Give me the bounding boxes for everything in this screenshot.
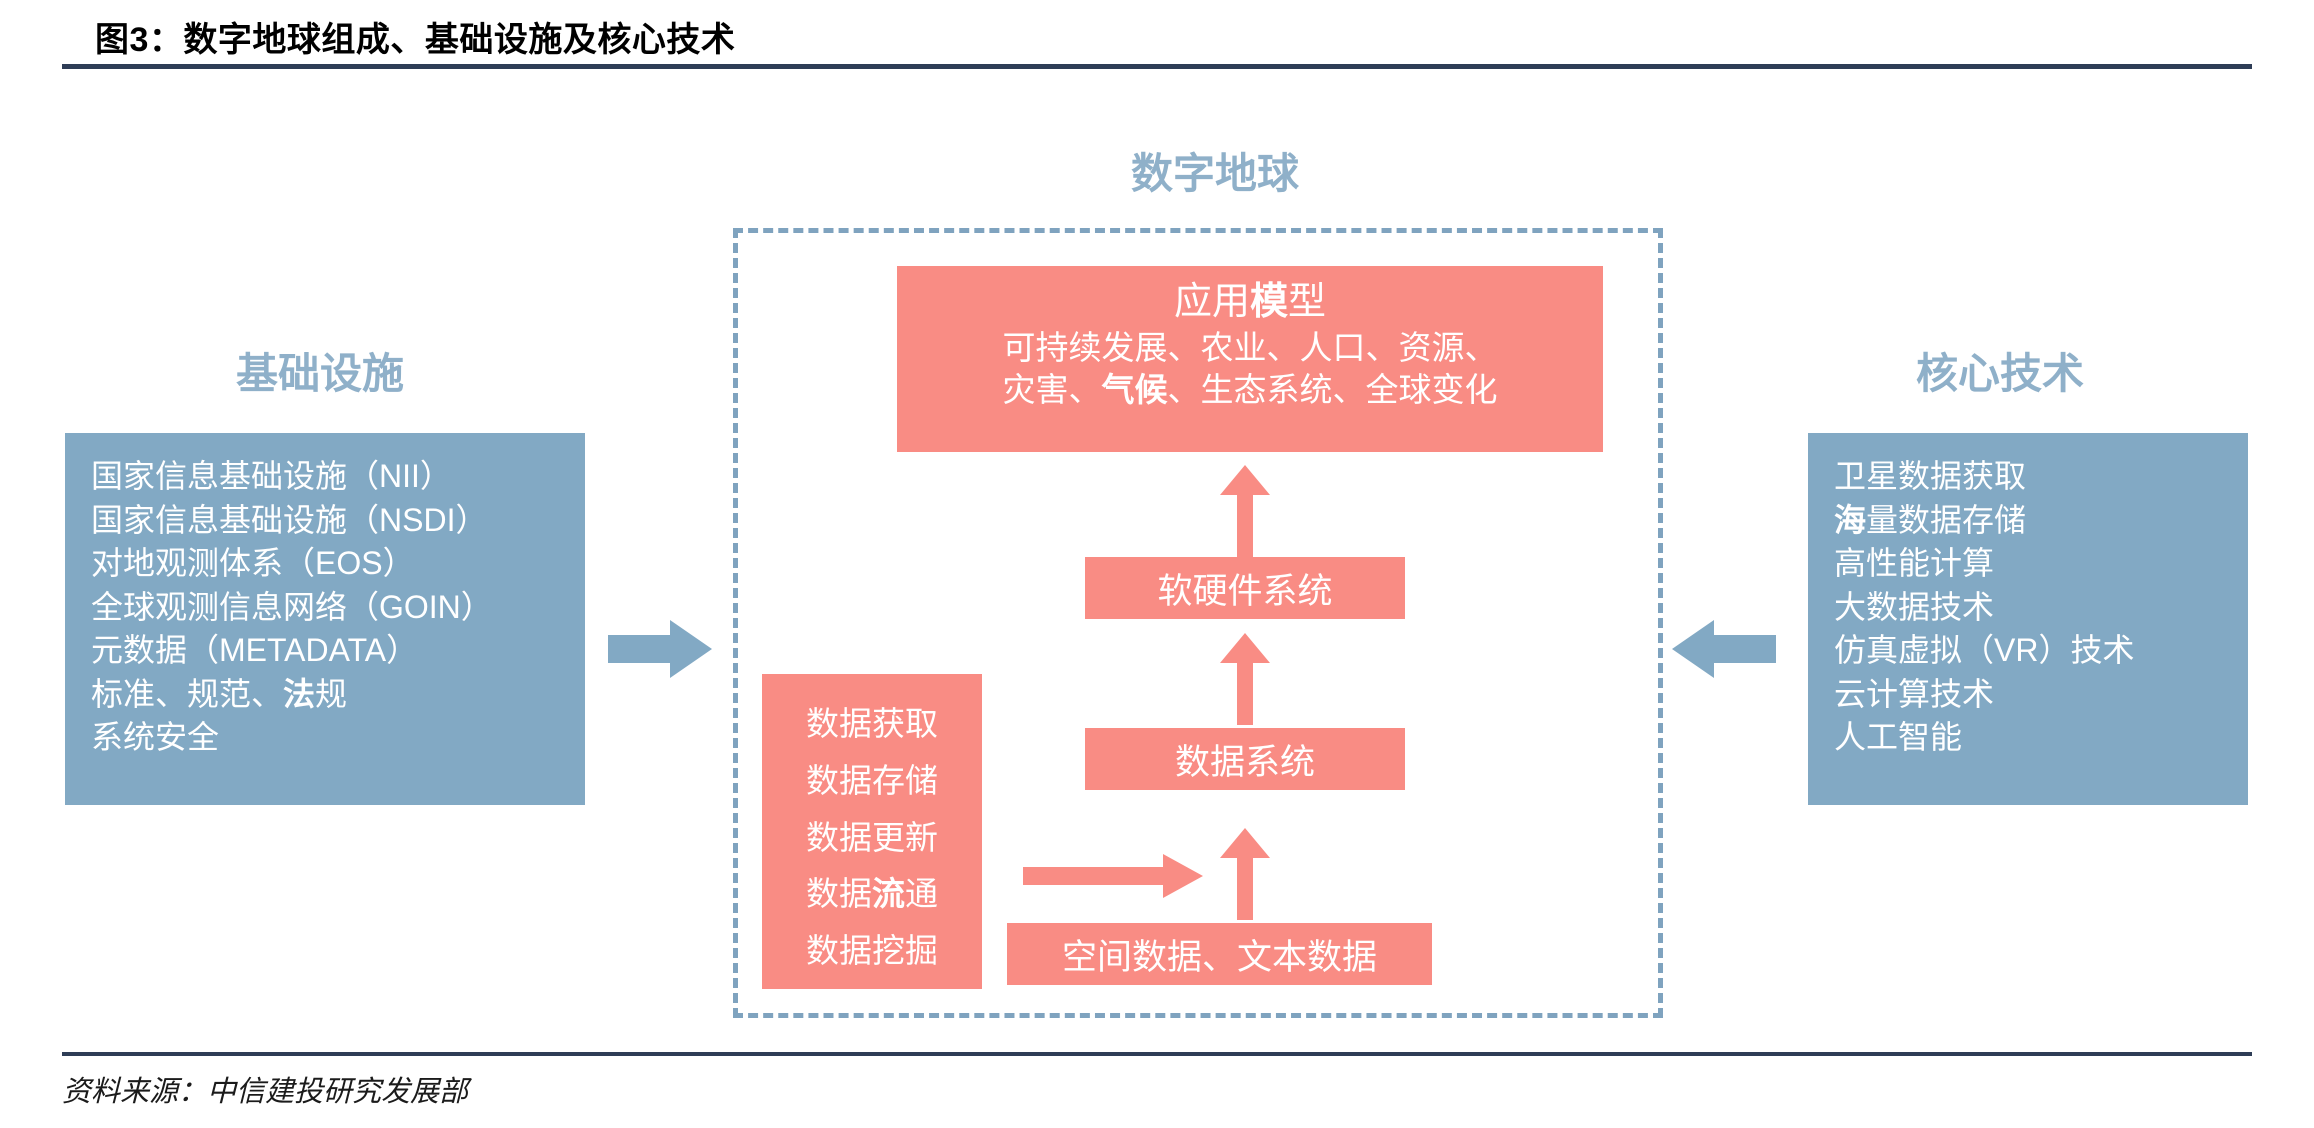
title-divider	[62, 64, 2252, 69]
footer-divider	[62, 1052, 2252, 1056]
data-operations-box: 数据获取 数据存储 数据更新 数据流通 数据挖掘	[762, 674, 982, 989]
application-model-title: 应用模型	[897, 278, 1603, 327]
list-item: 海量数据存储	[1834, 499, 2228, 543]
list-item: 仿真虚拟（VR）技术	[1834, 629, 2228, 673]
heading-infrastructure: 基础设施	[110, 340, 530, 401]
list-item: 高性能计算	[1834, 542, 2228, 586]
list-item: 云计算技术	[1834, 673, 2228, 717]
list-item: 元数据（METADATA）	[91, 629, 565, 673]
source-note: 资料来源：中信建投研究发展部	[62, 1068, 468, 1110]
list-item: 全球观测信息网络（GOIN）	[91, 586, 565, 630]
list-item: 大数据技术	[1834, 586, 2228, 630]
list-item: 数据流通	[762, 866, 982, 923]
list-item: 国家信息基础设施（NSDI）	[91, 499, 565, 543]
list-item: 数据更新	[762, 810, 982, 867]
list-item: 数据存储	[762, 753, 982, 810]
heading-core-technology: 核心技术	[1830, 340, 2170, 401]
list-item: 国家信息基础设施（NII）	[91, 455, 565, 499]
application-model-box: 应用模型 可持续发展、农业、人口、资源、 灾害、气候、生态系统、全球变化	[897, 266, 1603, 452]
arrow-right-icon	[1023, 854, 1203, 898]
arrow-right-icon	[608, 620, 712, 678]
arrow-left-icon	[1672, 620, 1776, 678]
list-item: 标准、规范、法规	[91, 673, 565, 717]
infrastructure-box: 国家信息基础设施（NII） 国家信息基础设施（NSDI） 对地观测体系（EOS）…	[65, 433, 585, 805]
list-item: 系统安全	[91, 716, 565, 760]
arrow-up-icon	[1220, 828, 1270, 920]
figure-canvas: 图3：数字地球组成、基础设施及核心技术 数字地球 基础设施 核心技术 国家信息基…	[0, 0, 2314, 1128]
spatial-text-data-box: 空间数据、文本数据	[1007, 923, 1432, 985]
list-item: 对地观测体系（EOS）	[91, 542, 565, 586]
list-item: 数据挖掘	[762, 923, 982, 980]
application-model-line-2: 灾害、气候、生态系统、全球变化	[897, 369, 1603, 411]
core-technology-box: 卫星数据获取 海量数据存储 高性能计算 大数据技术 仿真虚拟（VR）技术 云计算…	[1808, 433, 2248, 805]
list-item: 人工智能	[1834, 716, 2228, 760]
figure-title: 图3：数字地球组成、基础设施及核心技术	[95, 12, 735, 61]
list-item: 卫星数据获取	[1834, 455, 2228, 499]
arrow-up-icon	[1220, 633, 1270, 725]
list-item: 数据获取	[762, 696, 982, 753]
heading-digital-earth: 数字地球	[1005, 140, 1425, 201]
data-system-box: 数据系统	[1085, 728, 1405, 790]
hardware-software-system-box: 软硬件系统	[1085, 557, 1405, 619]
application-model-line-1: 可持续发展、农业、人口、资源、	[897, 327, 1603, 369]
arrow-up-icon	[1220, 465, 1270, 557]
